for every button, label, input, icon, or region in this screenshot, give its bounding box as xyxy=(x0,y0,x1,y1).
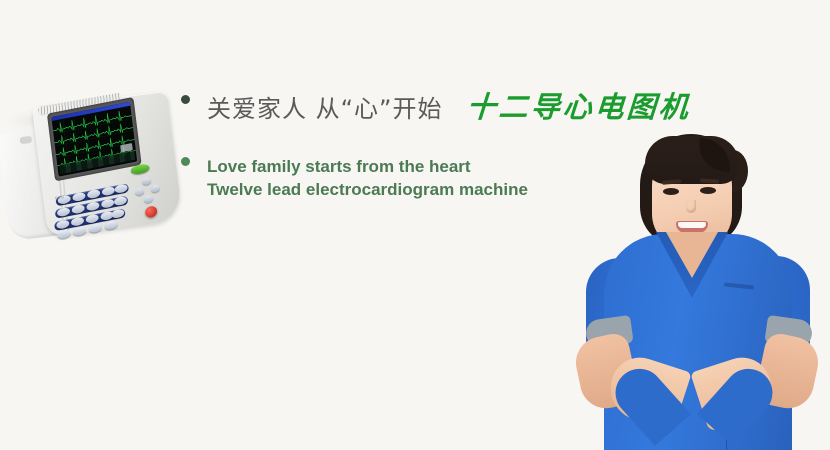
eye-left xyxy=(663,188,679,195)
promo-banner: ECG 关爱家人 从“心”开始 十二导心电图机 Love family star… xyxy=(0,0,830,450)
keypad-key[interactable] xyxy=(88,223,102,233)
nurse-making-heart-gesture xyxy=(548,128,830,450)
headline-chinese-product: 十二导心电图机 xyxy=(465,84,692,126)
keypad-key[interactable] xyxy=(73,226,87,236)
bullet-point-chinese xyxy=(181,95,190,104)
teeth xyxy=(678,222,706,228)
subheadline-english-line-1: Love family starts from the heart xyxy=(207,155,528,178)
stop-key[interactable] xyxy=(145,205,158,218)
keypad-key[interactable] xyxy=(57,229,71,239)
headline-chinese-plain: 关爱家人 从“心”开始 xyxy=(207,89,443,124)
nav-left-key[interactable] xyxy=(135,187,145,196)
smiling-mouth xyxy=(676,221,708,233)
nav-right-key[interactable] xyxy=(150,184,160,193)
keypad-key[interactable] xyxy=(104,220,118,230)
nav-up-key[interactable] xyxy=(142,177,152,186)
twelve-lead-ecg-machine: ECG xyxy=(0,85,185,255)
ecg-waveform-display xyxy=(51,102,137,177)
subheadline-english-line-2: Twelve lead electrocardiogram machine xyxy=(207,178,528,201)
nose xyxy=(686,200,696,213)
headline-chinese: 关爱家人 从“心”开始 十二导心电图机 xyxy=(207,84,691,126)
heart-gesture-negative-space xyxy=(648,356,740,442)
nav-down-key[interactable] xyxy=(144,195,154,204)
subheadline-english: Love family starts from the heart Twelve… xyxy=(207,155,528,201)
eye-right xyxy=(700,187,716,194)
bullet-point-english xyxy=(181,157,190,166)
